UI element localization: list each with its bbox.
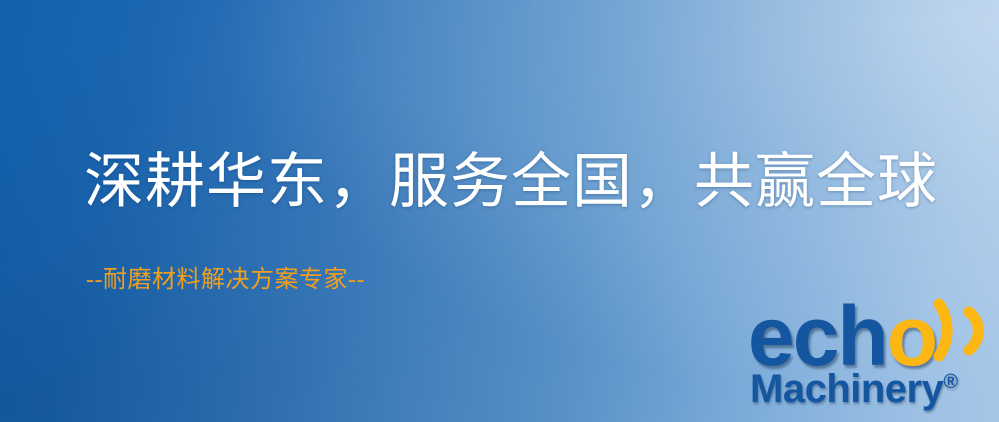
promotional-banner: 深耕华东，服务全国，共赢全球 --耐磨材料解决方案专家-- echo Machi…: [0, 0, 999, 422]
registered-trademark-icon: ®: [943, 371, 958, 393]
logo-tagline: Machinery®: [750, 369, 958, 409]
echo-machinery-logo: echo Machinery®: [742, 294, 999, 422]
echo-signal-waves-icon: [925, 294, 999, 370]
logo-wordmark: echo: [748, 294, 936, 378]
banner-subtitle: --耐磨材料解决方案专家--: [86, 268, 365, 292]
banner-headline: 深耕华东，服务全国，共赢全球: [84, 152, 938, 212]
logo-tagline-text: Machinery: [750, 367, 943, 411]
